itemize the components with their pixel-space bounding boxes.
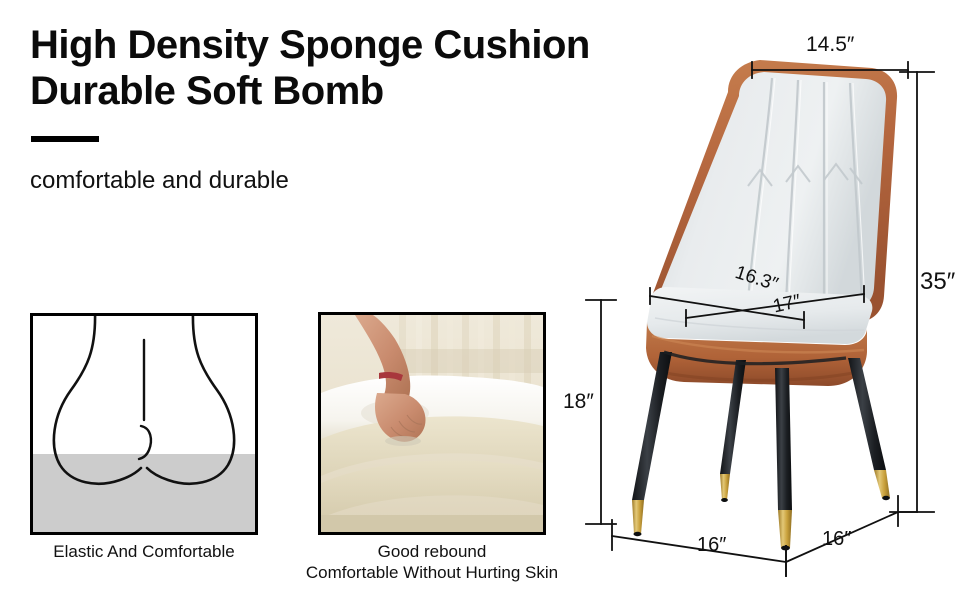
dimension-seat-depth: 16.3″ (732, 262, 780, 296)
headline-block: High Density Sponge Cushion Durable Soft… (30, 22, 690, 114)
dimension-base-side: 16″ (822, 528, 851, 551)
page-title: High Density Sponge Cushion Durable Soft… (30, 22, 690, 114)
caption-elastic: Elastic And Comfortable (12, 541, 276, 562)
dimension-seat-height: 18″ (563, 390, 594, 414)
dimension-base-front: 16″ (697, 534, 726, 557)
dimension-backrest-width: 14.5″ (806, 33, 854, 57)
dimension-total-height: 35″ (920, 268, 955, 296)
feature-panel-elastic (30, 313, 258, 535)
hand-pressing-foam-photo (321, 315, 543, 532)
page-title-line-2: Durable Soft Bomb (30, 69, 384, 113)
dimension-seat-width: 17″ (771, 291, 803, 319)
feature-panel-rebound (318, 312, 546, 535)
title-divider-rule (31, 136, 99, 142)
caption-rebound-line-1: Good rebound (378, 542, 487, 561)
page-title-line-1: High Density Sponge Cushion (30, 23, 590, 67)
caption-rebound-line-2: Comfortable Without Hurting Skin (306, 563, 558, 582)
page-subtitle: comfortable and durable (30, 166, 289, 196)
infographic-stage: High Density Sponge Cushion Durable Soft… (0, 0, 970, 600)
seated-figure-line-drawing (33, 316, 255, 532)
caption-rebound: Good rebound Comfortable Without Hurting… (268, 541, 596, 583)
